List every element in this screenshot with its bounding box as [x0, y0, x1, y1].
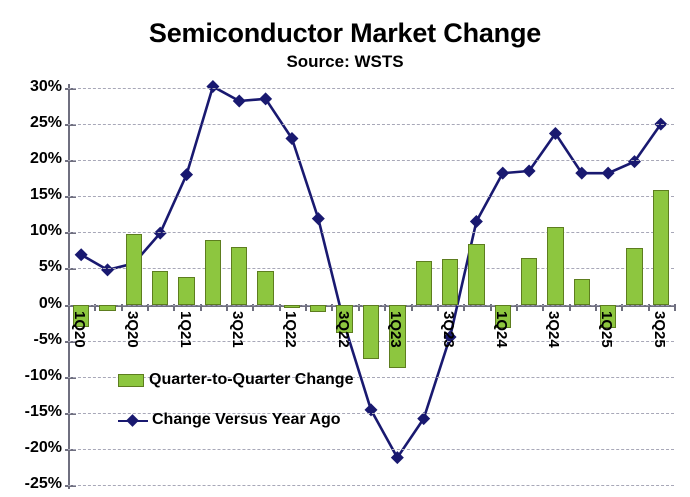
legend-bar-swatch-icon: [118, 374, 144, 387]
line-marker-1q21: [180, 168, 193, 181]
bar-4q21: [257, 271, 273, 305]
y-axis-tick-label: -5%: [4, 331, 62, 349]
bar-4q20: [152, 271, 168, 304]
y-axis-tick-label: 10%: [4, 222, 62, 240]
x-axis-tick-label: 1Q21: [177, 311, 194, 348]
bar-1q22: [284, 305, 300, 309]
chart-title: Semiconductor Market Change: [0, 18, 690, 49]
line-marker-1q24: [496, 167, 509, 180]
bar-3q21: [231, 247, 247, 305]
line-marker-4q23: [470, 215, 483, 228]
bar-4q24: [574, 279, 590, 304]
y-axis-tick-label: 30%: [4, 78, 62, 96]
gridline: [68, 268, 674, 269]
y-axis-tick-label: -25%: [4, 475, 62, 493]
x-axis-tick-label: 1Q20: [71, 311, 88, 348]
y-axis-tick-label: 25%: [4, 114, 62, 132]
line-marker-2q21: [206, 80, 219, 93]
y-axis-tick-label: 0%: [4, 295, 62, 313]
gridline: [68, 196, 674, 197]
bar-3q24: [547, 227, 563, 305]
x-axis-tick-label: 1Q23: [387, 311, 404, 348]
gridline: [68, 88, 674, 89]
bar-3q20: [126, 234, 142, 305]
line-marker-1q20: [75, 248, 88, 261]
bar-2q22: [310, 305, 326, 312]
x-axis-tick-label: 1Q24: [493, 311, 510, 348]
x-axis-tick-label: 3Q20: [124, 311, 141, 348]
y-axis-tick-label: 20%: [4, 150, 62, 168]
bar-2q24: [521, 258, 537, 305]
legend-label-quarter-to-quarter: Quarter-to-Quarter Change: [149, 371, 353, 388]
y-axis-labels: 30%25%20%15%10%5%0%-5%-10%-15%-20%-25%: [0, 88, 62, 485]
bar-4q23: [468, 244, 484, 305]
line-marker-2q22: [312, 212, 325, 225]
gridline: [68, 449, 674, 450]
gridline: [68, 232, 674, 233]
bar-2q23: [416, 261, 432, 304]
line-marker-2q20: [101, 263, 114, 276]
legend-line-diamond-icon: [118, 414, 148, 427]
bar-3q23: [442, 259, 458, 304]
x-axis-tick: [674, 304, 676, 311]
bar-1q21: [178, 277, 194, 304]
gridline: [68, 124, 674, 125]
chart-container: Semiconductor Market Change Source: WSTS…: [0, 0, 690, 497]
x-axis-tick-label: 1Q22: [282, 311, 299, 348]
legend-item-change-versus-year-ago: Change Versus Year Ago: [118, 411, 341, 429]
x-axis-tick-label: 3Q24: [545, 311, 562, 348]
bar-2q20: [99, 305, 115, 311]
chart-subtitle: Source: WSTS: [0, 52, 690, 72]
bar-2q21: [205, 240, 221, 305]
legend-item-quarter-to-quarter: Quarter-to-Quarter Change: [118, 371, 353, 389]
y-axis-tick-label: 15%: [4, 186, 62, 204]
y-axis-tick-label: -20%: [4, 439, 62, 457]
bar-4q22: [363, 305, 379, 359]
line-marker-4q22: [364, 403, 377, 416]
y-axis-tick-label: 5%: [4, 258, 62, 276]
line-marker-3q21: [233, 94, 246, 107]
bar-2q25: [626, 248, 642, 305]
line-marker-1q25: [602, 167, 615, 180]
x-axis-tick-label: 3Q25: [651, 311, 668, 348]
legend-label-change-versus-year-ago: Change Versus Year Ago: [152, 411, 341, 428]
gridline: [68, 160, 674, 161]
x-axis-tick-label: 3Q21: [229, 311, 246, 348]
y-axis-tick-label: -10%: [4, 367, 62, 385]
y-axis-tick-label: -15%: [4, 403, 62, 421]
x-axis-tick-label: 3Q22: [335, 311, 352, 348]
x-axis-tick-label: 3Q23: [440, 311, 457, 348]
gridline: [68, 485, 674, 486]
x-axis-tick-label: 1Q25: [598, 311, 615, 348]
bar-3q25: [653, 190, 669, 304]
